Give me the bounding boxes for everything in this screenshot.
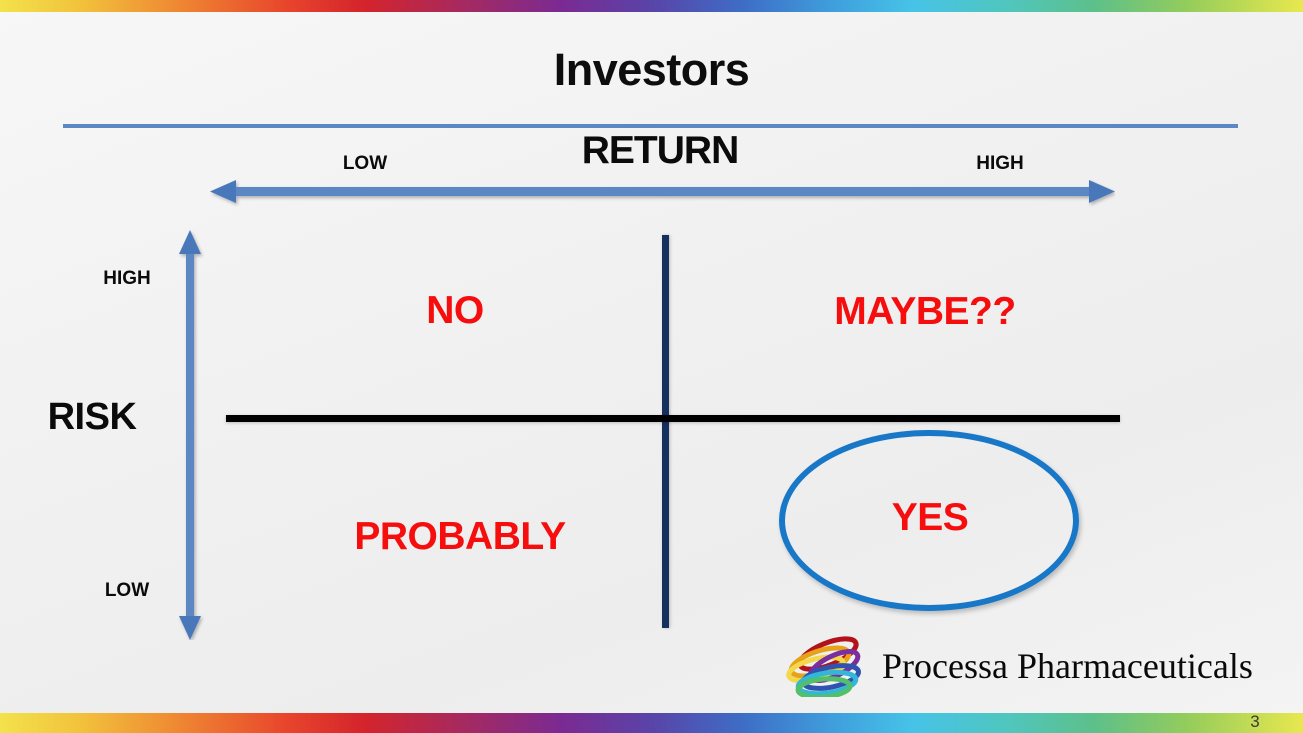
top-rainbow-bar	[0, 0, 1303, 12]
quadrant-label-no: NO	[330, 289, 580, 333]
y-axis-label-risk: RISK	[12, 396, 172, 439]
quadrant-vertical-divider	[662, 235, 669, 628]
x-axis-high-label: HIGH	[935, 153, 1065, 175]
processa-rings-icon	[782, 635, 874, 697]
x-axis-double-arrow-icon	[210, 176, 1115, 210]
x-axis-label-return: RETURN	[480, 129, 840, 173]
company-logo: Processa Pharmaceuticals	[782, 634, 1282, 698]
quadrant-label-probably: PROBABLY	[290, 515, 630, 559]
y-axis-double-arrow-icon	[174, 230, 208, 640]
quadrant-horizontal-divider	[226, 415, 1120, 422]
page-number: 3	[1240, 712, 1270, 732]
title-divider-rule	[63, 124, 1238, 128]
quadrant-label-maybe: MAYBE??	[760, 290, 1090, 334]
slide-canvas: Investors RETURN LOW HIGH RISK HIGH LOW …	[0, 0, 1303, 733]
bottom-rainbow-bar	[0, 713, 1303, 733]
quadrant-label-yes: YES	[820, 496, 1040, 540]
page-title: Investors	[0, 44, 1303, 96]
company-name: Processa Pharmaceuticals	[882, 645, 1253, 687]
x-axis-low-label: LOW	[300, 153, 430, 175]
y-axis-high-label: HIGH	[62, 268, 192, 290]
y-axis-low-label: LOW	[62, 580, 192, 602]
